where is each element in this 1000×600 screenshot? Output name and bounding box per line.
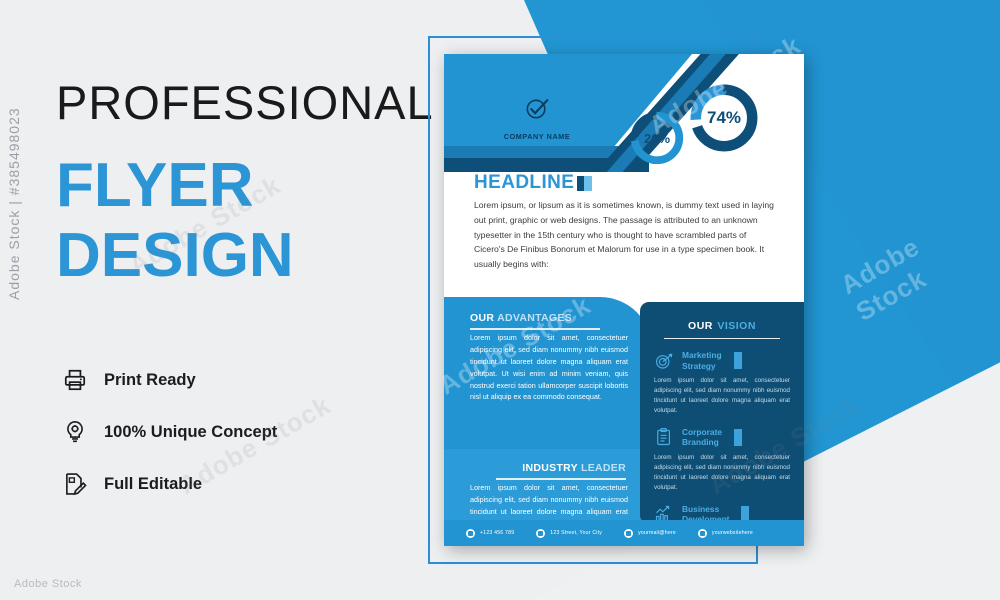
vision-heading-light: VISION bbox=[717, 320, 756, 332]
promo-title-design: DESIGN bbox=[56, 221, 436, 290]
printer-icon bbox=[60, 365, 90, 395]
phone-icon bbox=[466, 529, 475, 538]
target-arrow-icon bbox=[654, 351, 674, 371]
flyer-footer: +123 456 789 123 Street, Your City yourm… bbox=[444, 520, 804, 546]
advantages-heading-light: ADVANTAGES bbox=[497, 312, 572, 324]
industry-heading-bold: INDUSTRY bbox=[522, 462, 578, 474]
footer-contact-address[interactable]: 123 Street, Your City bbox=[536, 529, 602, 538]
vision-item-title: Corporate Branding bbox=[682, 427, 722, 448]
stock-id-vertical: Adobe Stock | #385498023 bbox=[6, 107, 22, 300]
promo-title-flyer: FLYER bbox=[56, 151, 436, 220]
clipboard-icon bbox=[654, 427, 674, 447]
document-pencil-icon bbox=[60, 469, 90, 499]
footer-contact-text: +123 456 789 bbox=[480, 530, 514, 536]
advantages-heading-bold: OUR bbox=[470, 312, 494, 324]
envelope-icon bbox=[624, 529, 633, 538]
list-item: 100% Unique Concept bbox=[60, 417, 390, 447]
promo-feature-list: Print Ready 100% Unique Concept Full Edi… bbox=[60, 365, 390, 521]
vision-item-body: Lorem ipsum dolor sit amet, consectetuer… bbox=[654, 376, 790, 416]
advantages-heading: OUR ADVANTAGES bbox=[470, 312, 600, 330]
donut-chart-74: 74% bbox=[686, 80, 762, 156]
flyer-headline: HEADLINE bbox=[474, 172, 592, 194]
advantages-body: Lorem ipsum dolor sit amet, consectetuer… bbox=[470, 332, 628, 403]
feature-label: Full Editable bbox=[104, 475, 202, 494]
list-item: Print Ready bbox=[60, 365, 390, 395]
check-circle-icon bbox=[522, 111, 552, 128]
list-item: Full Editable bbox=[60, 469, 390, 499]
footer-contact-website[interactable]: yourwebsitehere bbox=[698, 529, 753, 538]
divider bbox=[664, 338, 780, 339]
list-item: Corporate Branding Lorem ipsum dolor sit… bbox=[654, 427, 790, 493]
location-pin-icon bbox=[536, 529, 545, 538]
globe-icon bbox=[698, 529, 707, 538]
donut-label-74: 74% bbox=[686, 80, 762, 156]
divider bbox=[496, 478, 626, 480]
headline-text: HEADLINE bbox=[474, 172, 574, 194]
vision-item-tag bbox=[729, 352, 742, 369]
headline-accent-block bbox=[577, 176, 592, 191]
vision-item-body: Lorem ipsum dolor sit amet, consectetuer… bbox=[654, 453, 790, 493]
footer-contact-text: 123 Street, Your City bbox=[550, 530, 602, 536]
footer-contact-email[interactable]: yourmail@here bbox=[624, 529, 676, 538]
donut-chart-26: 26% bbox=[627, 108, 687, 168]
footer-contact-text: yourmail@here bbox=[638, 530, 676, 536]
divider bbox=[470, 328, 600, 330]
vision-item-title: Marketing Strategy bbox=[682, 350, 722, 371]
industry-heading-light: LEADER bbox=[581, 462, 626, 474]
donut-label-26: 26% bbox=[627, 108, 687, 168]
footer-contact-phone[interactable]: +123 456 789 bbox=[466, 529, 514, 538]
feature-label: 100% Unique Concept bbox=[104, 423, 277, 442]
promo-title-block: PROFESSIONAL FLYER DESIGN bbox=[56, 78, 436, 290]
flyer-page: COMPANY NAME 26% 74% HEADLINE Lorem ipsu… bbox=[444, 54, 804, 546]
industry-heading: INDUSTRY LEADER bbox=[496, 462, 626, 480]
vision-heading-bold: OUR bbox=[688, 320, 713, 332]
stock-footer-label: Adobe Stock bbox=[14, 578, 82, 590]
vision-heading: OUR VISION bbox=[658, 316, 786, 339]
lightbulb-gear-icon bbox=[60, 417, 90, 447]
footer-contact-text: yourwebsitehere bbox=[712, 530, 753, 536]
feature-label: Print Ready bbox=[104, 371, 196, 390]
list-item: Marketing Strategy Lorem ipsum dolor sit… bbox=[654, 350, 790, 416]
company-name-label: COMPANY NAME bbox=[492, 132, 582, 141]
vision-panel: OUR VISION Marketing Strategy bbox=[640, 302, 804, 524]
company-logo: COMPANY NAME bbox=[492, 94, 582, 141]
intro-paragraph: Lorem ipsum, or lipsum as it is sometime… bbox=[474, 198, 774, 272]
vision-item-tag bbox=[729, 429, 742, 446]
promo-title-professional: PROFESSIONAL bbox=[56, 78, 436, 127]
